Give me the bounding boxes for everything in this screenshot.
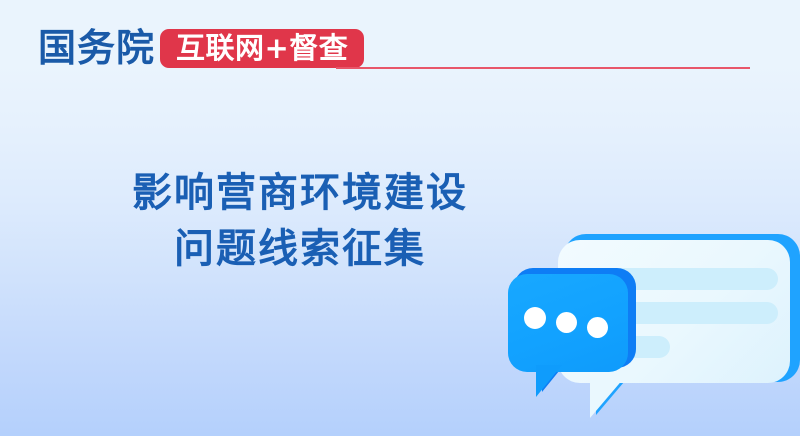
chat-bubbles-illustration (490, 220, 790, 436)
promo-banner: 国务院 互联网+督查 影响营商环境建设 问题线索征集 (0, 0, 800, 436)
typing-dot-1 (524, 307, 546, 329)
program-badge-label: 互联网+督查 (176, 34, 348, 63)
typing-dot-3 (587, 317, 608, 338)
headline-line-1: 影响营商环境建设 (0, 165, 600, 221)
program-badge: 互联网+督查 (160, 29, 364, 68)
state-council-wordmark: 国务院 (38, 28, 155, 68)
typing-dot-2 (556, 312, 577, 333)
header-divider-rule (336, 67, 750, 69)
large-chat-bubble-tail (590, 378, 624, 418)
small-chat-bubble-tail (536, 365, 562, 397)
banner-header: 国务院 互联网+督查 (0, 0, 800, 90)
